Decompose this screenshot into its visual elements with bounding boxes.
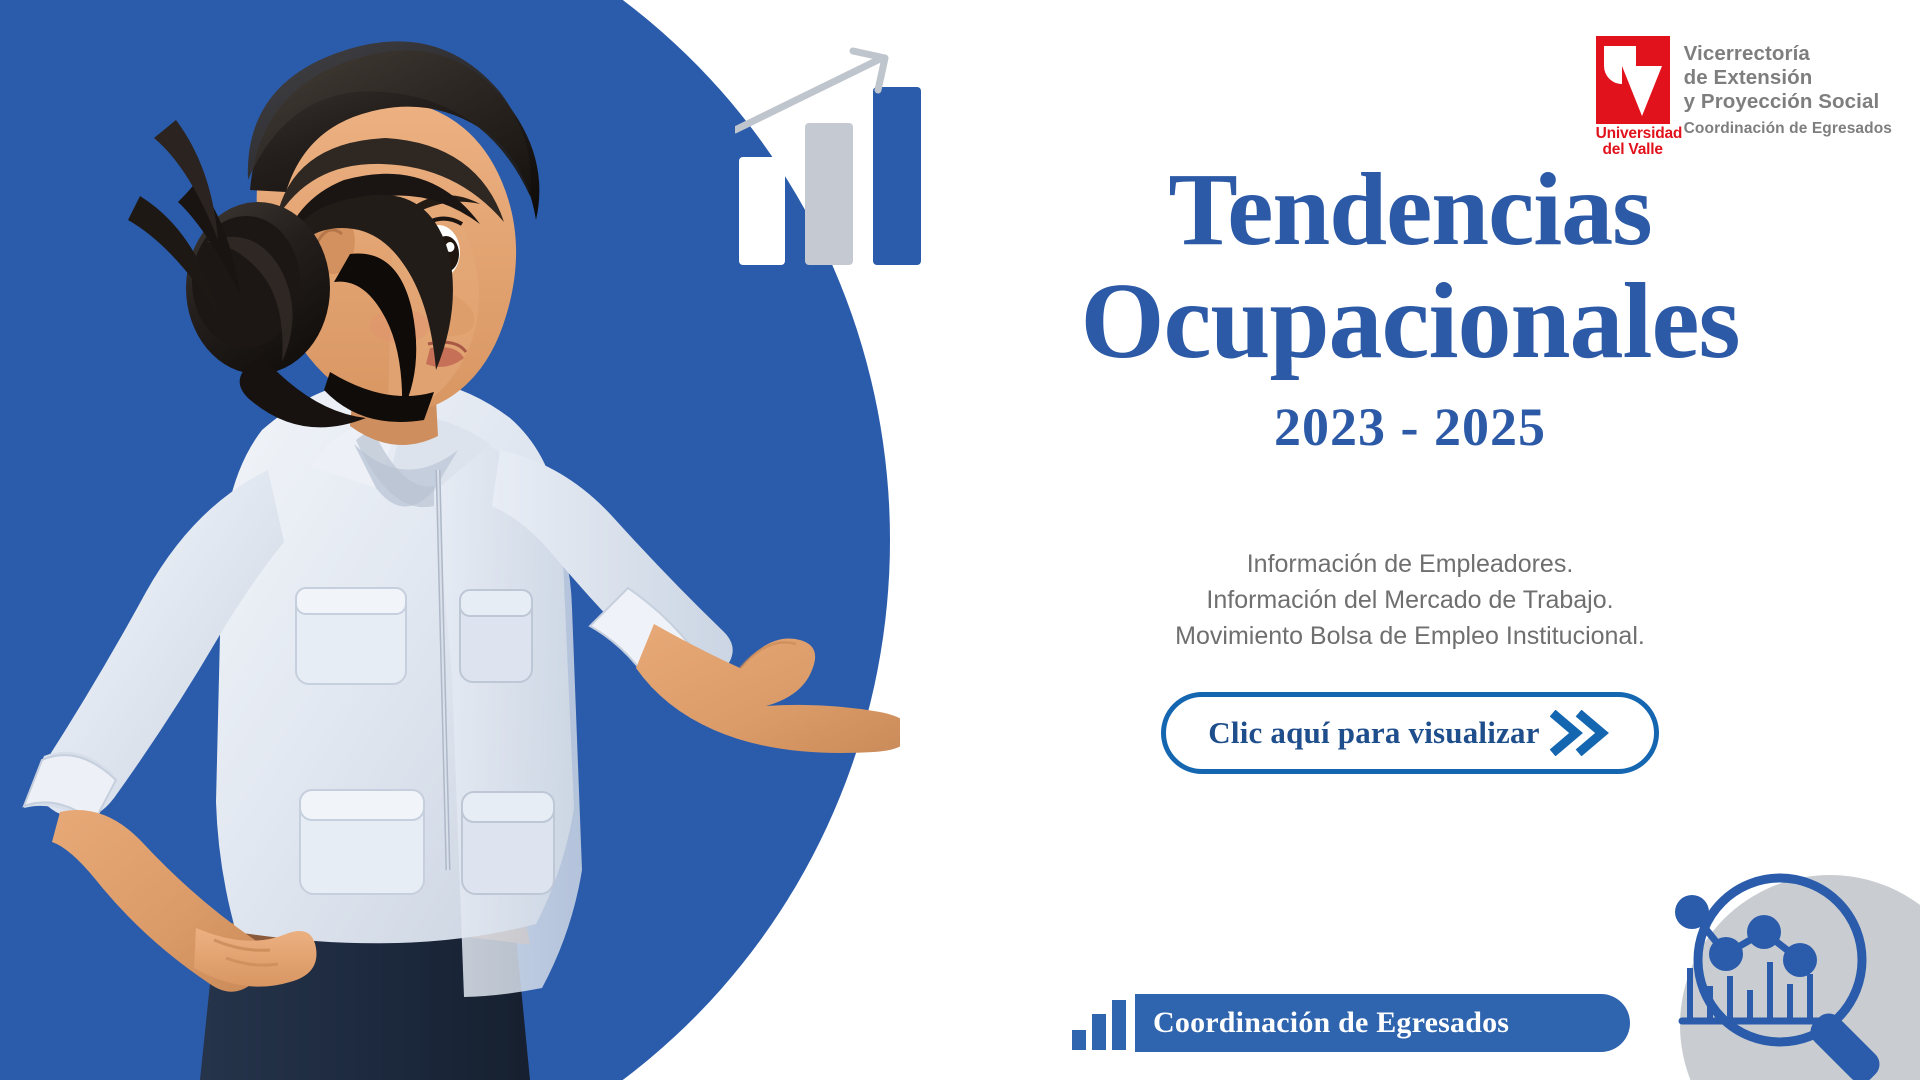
- title-line-1: Tendencias: [900, 155, 1920, 265]
- poster-canvas: Universidad del Valle Vicerrectoría de E…: [0, 0, 1920, 1080]
- description-list: Información de Empleadores. Información …: [1175, 546, 1645, 654]
- coordination-banner-pill: Coordinación de Egresados: [1135, 994, 1630, 1052]
- magnifier-analytics-icon: [1660, 850, 1920, 1080]
- description-line-3: Movimiento Bolsa de Empleo Institucional…: [1175, 618, 1645, 654]
- title-line-2: Ocupacionales: [900, 265, 1920, 379]
- visualize-button-label: Clic aquí para visualizar: [1208, 715, 1539, 751]
- double-chevron-right-icon: [1550, 710, 1612, 756]
- universidad-del-valle-logo-icon: Universidad del Valle: [1596, 36, 1670, 148]
- title-year-range: 2023 - 2025: [900, 396, 1920, 458]
- logo-text-block: Vicerrectoría de Extensión y Proyección …: [1684, 36, 1892, 138]
- coordination-banner-label: Coordinación de Egresados: [1153, 1006, 1509, 1040]
- logo-university-name: Universidad del Valle: [1596, 126, 1670, 158]
- visualize-button[interactable]: Clic aquí para visualizar: [1161, 692, 1659, 774]
- coordination-banner: Coordinación de Egresados: [1070, 994, 1630, 1052]
- growth-bar-1: [739, 157, 785, 265]
- description-line-2: Información del Mercado de Trabajo.: [1175, 582, 1645, 618]
- logo-unit-label: Coordinación de Egresados: [1684, 120, 1892, 138]
- logo-org-line-2: de Extensión: [1684, 66, 1892, 90]
- logo-org-line-3: y Proyección Social: [1684, 90, 1892, 114]
- description-line-1: Información de Empleadores.: [1175, 546, 1645, 582]
- logo-org-line-1: Vicerrectoría: [1684, 42, 1892, 66]
- univalle-logo-block: Universidad del Valle Vicerrectoría de E…: [1596, 36, 1892, 148]
- growth-bar-2: [805, 123, 853, 265]
- bar-chart-icon: [1070, 994, 1136, 1052]
- page-title: Tendencias Ocupacionales 2023 - 2025: [900, 155, 1920, 458]
